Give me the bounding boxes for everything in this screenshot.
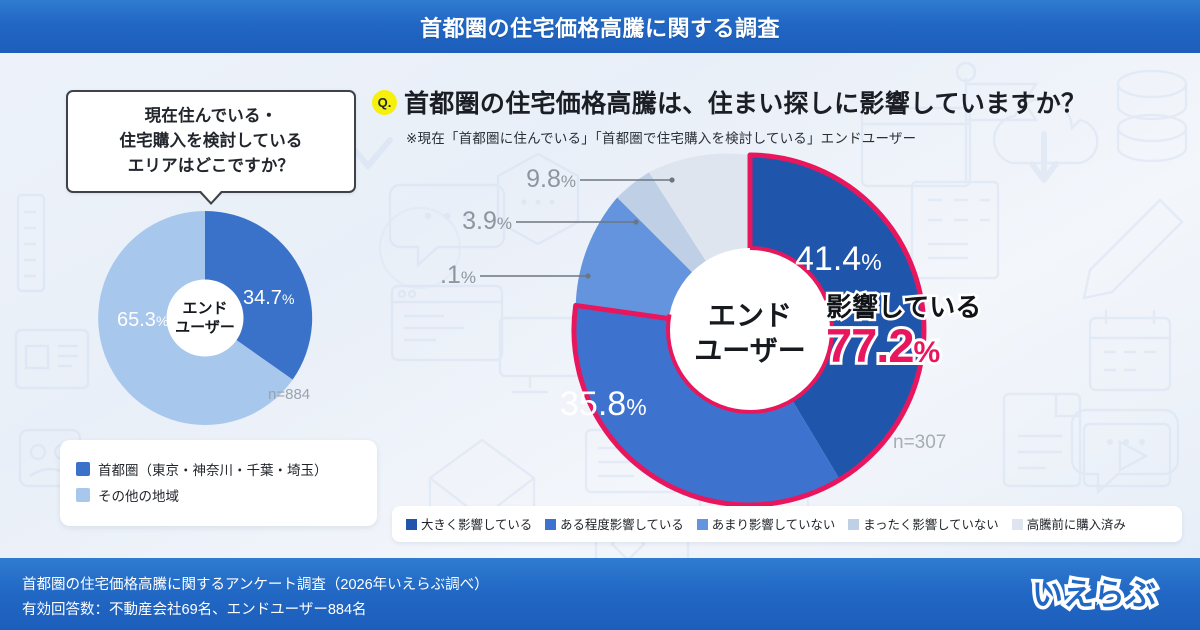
legend-item-shutoken[interactable]: 首都圏（東京・神奈川・千葉・埼玉） xyxy=(76,459,361,479)
legend-swatch-icon xyxy=(545,519,556,530)
header-bar: 首都圏の住宅価格高騰に関する調査 xyxy=(0,0,1200,53)
slice-label-65: 65.3% xyxy=(117,309,168,331)
leader-label-39: 3.9% xyxy=(462,207,512,235)
donut-center-line-1: エンド xyxy=(708,300,792,331)
legend-item-bought-before[interactable]: 高騰前に購入済み xyxy=(1012,515,1126,533)
impact-highlight-unit: % xyxy=(913,336,940,369)
legend-item-no-impact[interactable]: まったく影響していない xyxy=(848,515,998,533)
left-sample-size: n=884 xyxy=(268,386,310,403)
impact-highlight-label: 影響している xyxy=(826,294,981,320)
footer-line-1: 首都圏の住宅価格高騰に関するアンケート調査（2026年いえらぶ調べ） xyxy=(22,573,489,598)
callout-pointer xyxy=(198,191,224,205)
legend-label: あまり影響していない xyxy=(712,515,836,533)
ierabu-logo[interactable]: いえらぶ xyxy=(1010,572,1178,616)
question-line: Q. 首都圏の住宅価格高騰は、住まい探しに影響していますか？ xyxy=(372,84,1192,120)
legend-swatch-icon xyxy=(76,462,90,476)
legend-label: その他の地域 xyxy=(98,485,179,505)
legend-label: まったく影響していない xyxy=(863,515,998,533)
legend-label: ある程度影響している xyxy=(560,515,684,533)
question-note: ※現在「首都圏に住んでいる」「首都圏で住宅購入を検討している」エンドユーザー xyxy=(406,127,1192,147)
slice-label-34: 34.7% xyxy=(243,287,294,309)
callout-line-1: 現在住んでいる・ xyxy=(78,104,344,129)
question-badge-icon: Q. xyxy=(372,90,397,115)
main-sample-size: n=307 xyxy=(893,432,946,454)
leader-label-91: 9.1% xyxy=(440,261,476,289)
donut-center-line-2: ユーザー xyxy=(694,335,805,366)
legend-label: 大きく影響している xyxy=(421,515,532,533)
question-text: 首都圏の住宅価格高騰は、住まい探しに影響していますか？ xyxy=(404,84,1086,120)
footer-bar: 首都圏の住宅価格高騰に関するアンケート調査（2026年いえらぶ調べ） 有効回答数… xyxy=(0,558,1200,630)
footer-text: 首都圏の住宅価格高騰に関するアンケート調査（2026年いえらぶ調べ） 有効回答数… xyxy=(22,573,489,624)
legend-item-other[interactable]: その他の地域 xyxy=(76,485,361,505)
impact-highlight-value: 77.2 xyxy=(826,319,913,372)
callout-line-2: 住宅購入を検討している xyxy=(78,129,344,154)
donut-center-line-1: エンド xyxy=(182,300,227,317)
legend-item-some-impact[interactable]: ある程度影響している xyxy=(545,515,684,533)
impact-highlight: 影響している 77.2% xyxy=(826,294,981,369)
price-impact-donut: 41.4% 35.8% エンド ユーザー 9.8% 3.9% 9.1% xyxy=(440,150,1080,530)
leader-label-98: 9.8% xyxy=(526,165,576,193)
legend-swatch-icon xyxy=(1012,519,1023,530)
legend-item-strong-impact[interactable]: 大きく影響している xyxy=(406,515,532,533)
legend-swatch-icon xyxy=(406,519,417,530)
logo-text: いえらぶ xyxy=(1032,577,1156,612)
left-question-callout: 現在住んでいる・ 住宅購入を検討している エリアはどこですか？ xyxy=(66,90,356,193)
donut-hole xyxy=(167,280,244,357)
infographic-canvas: 首都圏の住宅価格高騰に関する調査 現在住んでいる・ 住宅購入を検討している エリ… xyxy=(0,0,1200,630)
question-block: Q. 首都圏の住宅価格高騰は、住まい探しに影響していますか？ ※現在「首都圏に住… xyxy=(372,84,1192,147)
legend-swatch-icon xyxy=(848,519,859,530)
legend-item-little-impact[interactable]: あまり影響していない xyxy=(697,515,836,533)
callout-line-3: エリアはどこですか？ xyxy=(78,154,344,179)
page-title: 首都圏の住宅価格高騰に関する調査 xyxy=(420,11,780,43)
footer-line-2: 有効回答数：不動産会社69名、エンドユーザー884名 xyxy=(22,598,489,623)
legend-label: 高騰前に購入済み xyxy=(1027,515,1126,533)
legend-swatch-icon xyxy=(76,488,90,502)
legend-swatch-icon xyxy=(697,519,708,530)
left-legend: 首都圏（東京・神奈川・千葉・埼玉） その他の地域 xyxy=(60,440,377,526)
legend-label: 首都圏（東京・神奈川・千葉・埼玉） xyxy=(98,459,328,479)
impact-highlight-value-row: 77.2% xyxy=(826,322,981,369)
main-legend: 大きく影響している ある程度影響している あまり影響していない まったく影響して… xyxy=(392,506,1182,542)
donut-center-line-2: ユーザー xyxy=(175,319,235,336)
